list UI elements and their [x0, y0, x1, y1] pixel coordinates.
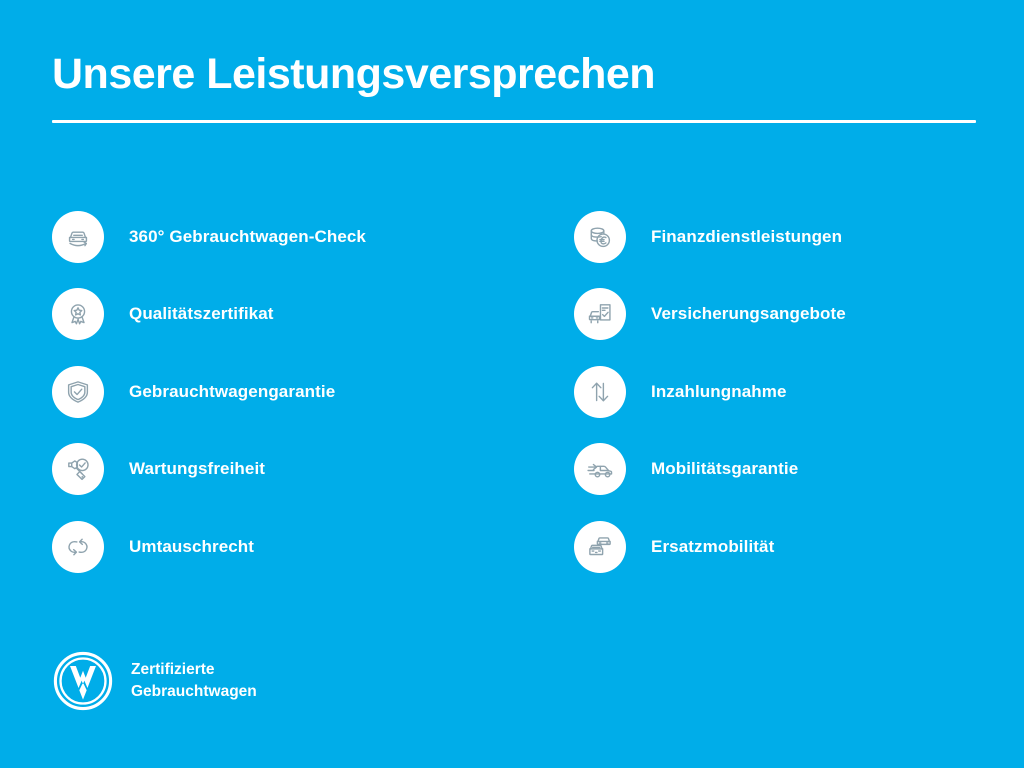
benefits-left-column: 360° Gebrauchtwagen-Check Qualitätszerti…	[52, 198, 522, 586]
benefit-item-inzahlungnahme[interactable]: Inzahlungnahme	[574, 353, 994, 431]
benefit-label: Qualitätszertifikat	[129, 304, 274, 324]
benefit-label: Versicherungsangebote	[651, 304, 846, 324]
brand-lockup: Zertifizierte Gebrauchtwagen	[52, 650, 257, 712]
benefits-right-column: Finanzdienstleistungen	[574, 198, 994, 586]
benefit-item-ersatzmobilitaet[interactable]: Ersatzmobilität	[574, 508, 994, 586]
page-title: Unsere Leistungsversprechen	[52, 52, 976, 97]
brand-text-line1: Zertifizierte	[131, 659, 257, 681]
benefit-label: 360° Gebrauchtwagen-Check	[129, 227, 366, 247]
car-document-check-icon	[574, 288, 626, 340]
benefit-item-finanzdienstleistungen[interactable]: Finanzdienstleistungen	[574, 198, 994, 276]
exchange-arrows-icon	[52, 521, 104, 573]
benefit-label: Gebrauchtwagengarantie	[129, 382, 335, 402]
shield-check-icon	[52, 366, 104, 418]
benefit-label: Umtauschrecht	[129, 537, 254, 557]
two-cars-icon	[574, 521, 626, 573]
award-rosette-icon	[52, 288, 104, 340]
coins-euro-icon	[574, 211, 626, 263]
volkswagen-logo	[52, 650, 114, 712]
brand-text-line2: Gebrauchtwagen	[131, 681, 257, 703]
arrows-up-down-icon	[574, 366, 626, 418]
car-360-check-icon	[52, 211, 104, 263]
benefit-item-gebrauchtwagengarantie[interactable]: Gebrauchtwagengarantie	[52, 353, 522, 431]
benefit-item-mobilitaetsgarantie[interactable]: Mobilitätsgarantie	[574, 431, 994, 509]
car-motion-icon	[574, 443, 626, 495]
benefit-item-versicherungsangebote[interactable]: Versicherungsangebote	[574, 276, 994, 354]
benefit-item-gebrauchtwagen-check[interactable]: 360° Gebrauchtwagen-Check	[52, 198, 522, 276]
benefit-label: Ersatzmobilität	[651, 537, 774, 557]
benefit-label: Wartungsfreiheit	[129, 459, 265, 479]
benefit-label: Mobilitätsgarantie	[651, 459, 798, 479]
benefit-label: Finanzdienstleistungen	[651, 227, 842, 247]
header: Unsere Leistungsversprechen	[52, 52, 976, 123]
benefit-item-qualitaetszertifikat[interactable]: Qualitätszertifikat	[52, 276, 522, 354]
benefit-item-wartungsfreiheit[interactable]: Wartungsfreiheit	[52, 431, 522, 509]
benefit-item-umtauschrecht[interactable]: Umtauschrecht	[52, 508, 522, 586]
header-divider	[52, 120, 976, 123]
brand-text: Zertifizierte Gebrauchtwagen	[131, 659, 257, 704]
wrench-check-icon	[52, 443, 104, 495]
slide-canvas: Unsere Leistungsversprechen	[0, 0, 1024, 768]
benefits-section: 360° Gebrauchtwagen-Check Qualitätszerti…	[0, 198, 1024, 586]
benefit-label: Inzahlungnahme	[651, 382, 787, 402]
